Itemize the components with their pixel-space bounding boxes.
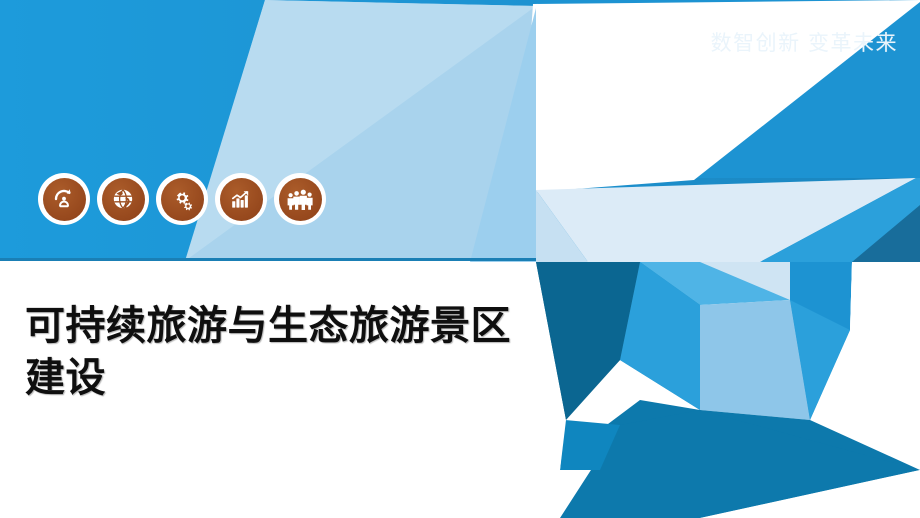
- polygonal-background-artwork: [0, 0, 920, 518]
- people-group-icon: [279, 178, 322, 221]
- tagline: 数智创新 变革未来: [711, 27, 898, 57]
- recycle-growth-icon: [43, 178, 86, 221]
- page-title: 可持续旅游与生态旅游景区建设: [25, 300, 545, 404]
- icon-badge-gears[interactable]: [156, 173, 208, 225]
- icon-row: [38, 173, 326, 225]
- presentation-cover-slide: 数智创新 变革未来: [0, 0, 920, 518]
- gears-icon: [161, 178, 204, 221]
- icon-badge-globe[interactable]: [97, 173, 149, 225]
- band-bottom-edge: [0, 258, 536, 261]
- icon-badge-recycle-growth[interactable]: [38, 173, 90, 225]
- globe-icon: [102, 178, 145, 221]
- poly-white-right-upper-b: [850, 262, 920, 332]
- icon-badge-people-group[interactable]: [274, 173, 326, 225]
- icon-badge-bar-chart-growth[interactable]: [215, 173, 267, 225]
- bar-chart-growth-icon: [220, 178, 263, 221]
